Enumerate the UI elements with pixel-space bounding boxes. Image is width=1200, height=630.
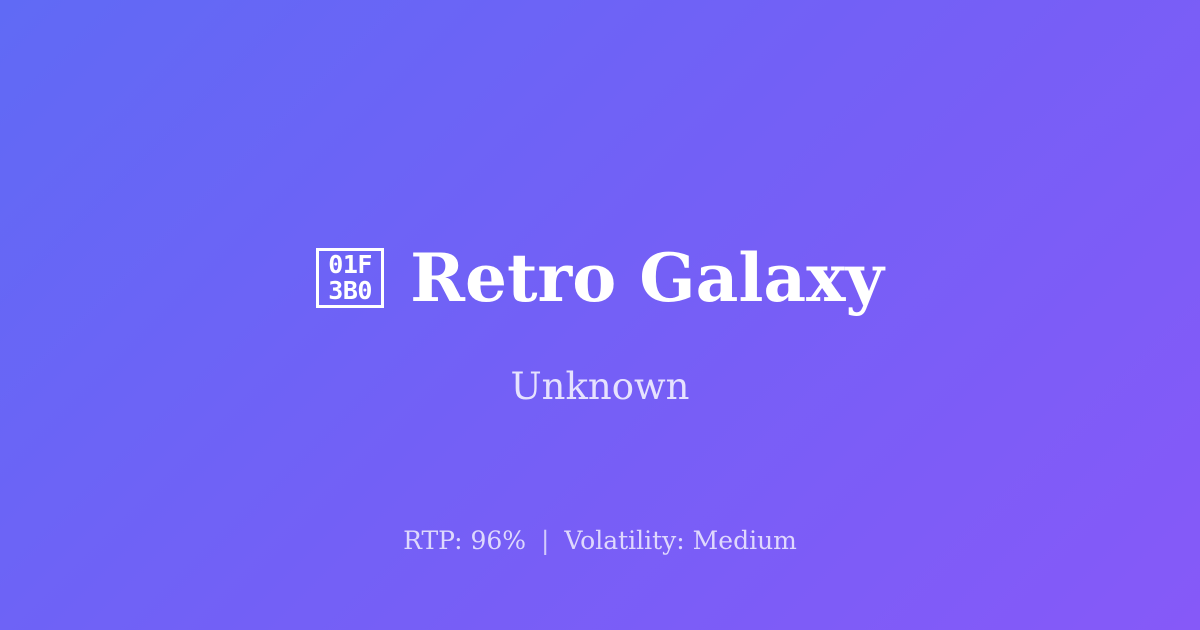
game-preview-card: 01F 3B0 Retro Galaxy Unknown RTP: 96% | … [0,0,1200,630]
tofu-codepoint-top: 01F [328,252,372,278]
volatility-value: Volatility: Medium [564,526,796,555]
slot-machine-icon: 01F 3B0 [316,248,384,308]
page-title: Retro Galaxy [410,238,884,318]
game-meta: RTP: 96% | Volatility: Medium [0,524,1200,558]
meta-separator: | [534,526,556,555]
title-row: 01F 3B0 Retro Galaxy [0,232,1200,324]
provider-name: Unknown [0,363,1200,411]
tofu-codepoint-bottom: 3B0 [328,278,372,304]
rtp-value: RTP: 96% [403,526,526,555]
